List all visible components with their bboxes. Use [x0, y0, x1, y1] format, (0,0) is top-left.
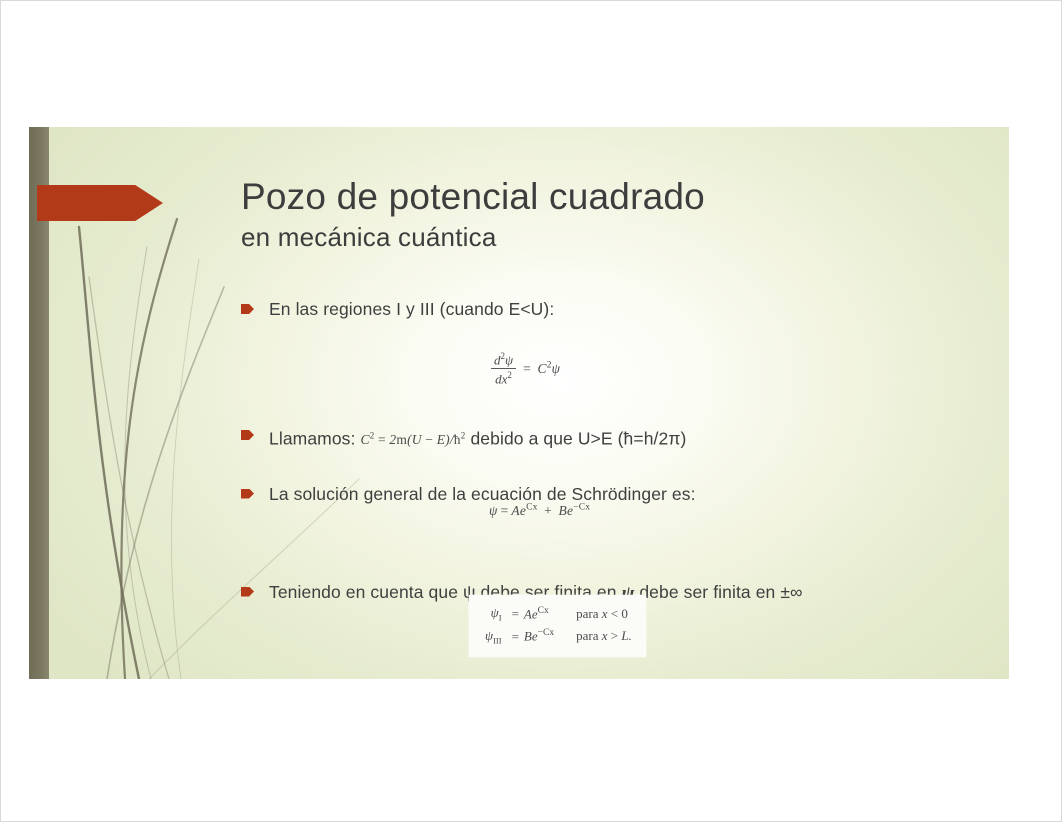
piecewise-equation-table: ψI = AeCx para x < 0 ψIII = Be−Cx para x…: [485, 603, 632, 648]
equation-block-1: d2ψ dx2 = C2ψ: [491, 351, 560, 388]
page-title: Pozo de potencial cuadrado: [241, 175, 961, 219]
title-block: Pozo de potencial cuadrado en mecánica c…: [241, 175, 961, 253]
table-row: ψI = AeCx para x < 0: [485, 603, 632, 626]
eq3-row2-equals: =: [507, 626, 524, 649]
bullet-arrow-icon: [241, 430, 254, 440]
eq3-row1-equals: =: [507, 603, 524, 626]
bullet-arrow-icon: [241, 587, 254, 597]
eq3-row2-condition: para x > L.: [576, 626, 632, 649]
fraction-numerator: d2ψ: [491, 351, 516, 368]
bullet-item-2: Llamamos:C2 = 2m(U − E)/ħ2debido a que U…: [241, 423, 981, 452]
bullet-item-3: La solución general de la ecuación de Sc…: [241, 482, 981, 506]
slide-body: En las regiones I y III (cuando E<U): Ll…: [241, 297, 981, 606]
spacer: [241, 321, 981, 371]
equation-2-text: ψ=AeCx + Be−Cx: [489, 503, 590, 518]
document-page: Pozo de potencial cuadrado en mecánica c…: [0, 0, 1062, 822]
red-arrow-banner: [37, 185, 163, 221]
bullet-text-3: La solución general de la ecuación de Sc…: [269, 482, 696, 506]
equation-block-3: ψI = AeCx para x < 0 ψIII = Be−Cx para x…: [469, 595, 646, 657]
eq3-row1-lhs: ψI: [485, 603, 507, 626]
equation-1-rhs: = C2ψ: [520, 361, 560, 376]
eq3-row2-rhs: Be−Cx: [524, 626, 576, 649]
eq3-row1-condition: para x < 0: [576, 603, 632, 626]
bullet-arrow-icon: [241, 489, 254, 499]
fraction-d2psi-dx2: d2ψ dx2: [491, 351, 516, 388]
table-row: ψIII = Be−Cx para x > L.: [485, 626, 632, 649]
bullet-arrow-icon: [241, 304, 254, 314]
eq3-row2-lhs: ψIII: [485, 626, 507, 649]
bullet-2-suffix: debido a que U>E (ħ=h/2π): [470, 429, 686, 449]
page-subtitle: en mecánica cuántica: [241, 221, 961, 253]
bullet-2-prefix: Llamamos:: [269, 429, 356, 449]
bullet-4-part2: debe ser finita en ±∞: [639, 582, 802, 602]
bullet-text-1: En las regiones I y III (cuando E<U):: [269, 297, 554, 321]
fraction-denominator: dx2: [491, 368, 516, 387]
equation-block-2: ψ=AeCx + Be−Cx: [489, 502, 590, 520]
eq3-row1-rhs: AeCx: [524, 603, 576, 626]
inline-formula-c-squared: C2 = 2m(U − E)/ħ2: [356, 432, 471, 447]
spacer: [241, 452, 981, 474]
bullet-text-2: Llamamos:C2 = 2m(U − E)/ħ2debido a que U…: [269, 423, 686, 452]
bullet-item-1: En las regiones I y III (cuando E<U):: [241, 297, 981, 321]
slide-canvas: Pozo de potencial cuadrado en mecánica c…: [29, 127, 1009, 679]
